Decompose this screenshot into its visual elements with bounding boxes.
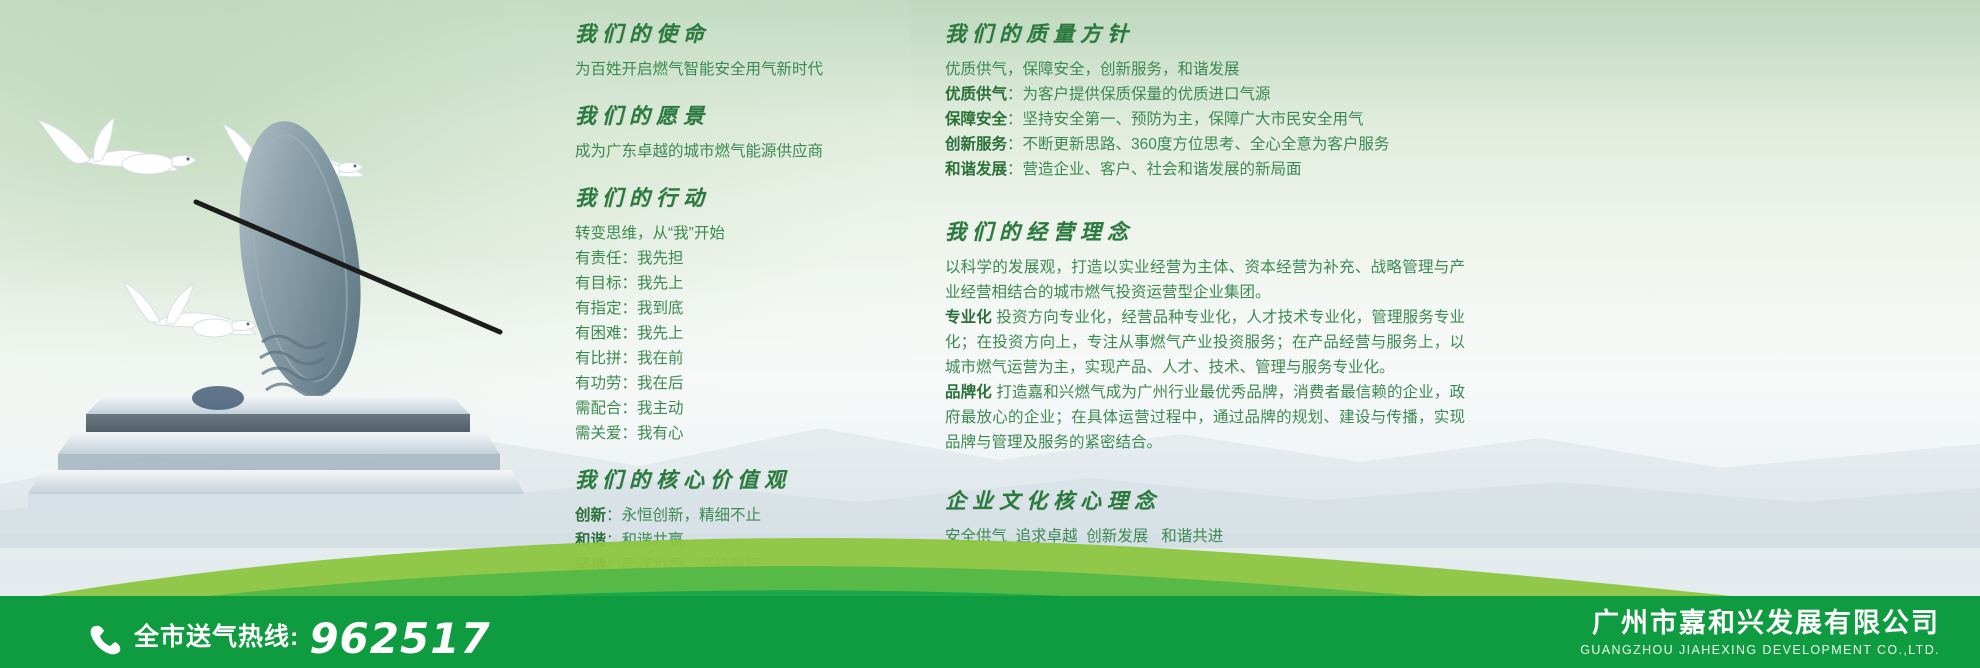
hotline-group: 全市送气热线: 962517 <box>88 618 491 660</box>
mission-line: 为百姓开启燃气智能安全用气新时代 <box>575 57 905 82</box>
mission-title: 我们的使命 <box>575 18 905 48</box>
quality-policy-lead: 创新服务 <box>945 136 1007 153</box>
company-identity: 广州市嘉和兴发展有限公司 GUANGZHOU JIAHEXING DEVELOP… <box>1580 608 1940 658</box>
action-block: 我们的行动 转变思维，从“我”开始 有责任：我先担 有目标：我先上 有指定：我到… <box>575 182 905 446</box>
business-philosophy-lead: 专业化 <box>945 309 992 326</box>
action-item: 有功劳：我在后 <box>575 371 905 396</box>
quality-policy-item: 优质供气：为客户提供保质保量的优质进口气源 <box>945 82 1465 107</box>
quality-policy-text: ：营造企业、客户、社会和谐发展的新局面 <box>1007 161 1302 178</box>
action-title: 我们的行动 <box>575 182 905 212</box>
action-item: 有指定：我到底 <box>575 296 905 321</box>
culture-core-title: 企业文化核心理念 <box>945 485 1465 515</box>
quality-policy-item: 保障安全：坚持安全第一、预防为主，保障广大市民安全用气 <box>945 107 1465 132</box>
business-philosophy-paragraph: 品牌化 打造嘉和兴燃气成为广州行业最优秀品牌，消费者最信赖的企业，政府最放心的企… <box>945 380 1465 455</box>
business-philosophy-title: 我们的经营理念 <box>945 216 1465 246</box>
business-philosophy-intro: 以科学的发展观，打造以实业经营为主体、资本经营为补充、战略管理与产业经营相结合的… <box>945 255 1465 305</box>
quality-policy-item: 和谐发展：营造企业、客户、社会和谐发展的新局面 <box>945 157 1465 182</box>
business-philosophy-paragraph: 专业化 投资方向专业化，经营品种专业化，人才技术专业化，管理服务专业化；在投资方… <box>945 305 1465 380</box>
quality-policy-text: ：不断更新思路、360度方位思考、全心全意为客户服务 <box>1007 136 1389 153</box>
action-item: 有比拼：我在前 <box>575 346 905 371</box>
culture-core-items: 安全供气 追求卓越 创新发展 和谐共进 <box>945 524 1465 549</box>
action-item: 有责任：我先担 <box>575 246 905 271</box>
company-name-en: GUANGZHOU JIAHEXING DEVELOPMENT CO.,LTD. <box>1580 642 1940 658</box>
core-values-block: 我们的核心价值观 创新：永恒创新，精细不止 和谐：和谐共赢 坚持：严谨负责，坚持… <box>575 464 905 578</box>
quality-policy-item: 创新服务：不断更新思路、360度方位思考、全心全意为客户服务 <box>945 132 1465 157</box>
core-value-text: ：和谐共赢 <box>606 532 684 549</box>
culture-core-item: 和谐共进 <box>1161 528 1223 545</box>
business-philosophy-text: 投资方向专业化，经营品种专业化，人才技术专业化，管理服务专业化；在投资方向上，专… <box>945 309 1465 376</box>
hotline-label: 全市送气热线: <box>134 625 299 650</box>
culture-core-block: 企业文化核心理念 安全供气 追求卓越 创新发展 和谐共进 <box>945 485 1465 549</box>
action-intro: 转变思维，从“我”开始 <box>575 221 905 246</box>
quality-policy-lead: 保障安全 <box>945 111 1007 128</box>
business-philosophy-text: 打造嘉和兴燃气成为广州行业最优秀品牌，消费者最信赖的企业，政府最放心的企业；在具… <box>945 384 1465 451</box>
core-value-lead: 创新 <box>575 507 606 524</box>
quality-policy-text: ：坚持安全第一、预防为主，保障广大市民安全用气 <box>1007 111 1364 128</box>
left-text-column: 我们的使命 为百姓开启燃气智能安全用气新时代 我们的愿景 成为广东卓越的城市燃气… <box>575 18 905 596</box>
stone-sundial-sculpture <box>0 110 560 510</box>
action-item: 需关爱：我有心 <box>575 421 905 446</box>
quality-policy-lead: 和谐发展 <box>945 161 1007 178</box>
culture-core-item: 创新发展 <box>1086 528 1148 545</box>
culture-core-item: 安全供气 <box>945 528 1007 545</box>
core-value-item: 和谐：和谐共赢 <box>575 528 905 553</box>
quality-policy-lead: 优质供气 <box>945 86 1007 103</box>
core-value-lead: 坚持 <box>575 557 606 574</box>
vision-line: 成为广东卓越的城市燃气能源供应商 <box>575 139 905 164</box>
vision-block: 我们的愿景 成为广东卓越的城市燃气能源供应商 <box>575 100 905 164</box>
quality-policy-title: 我们的质量方针 <box>945 18 1465 48</box>
core-value-lead: 和谐 <box>575 532 606 549</box>
quality-policy-block: 我们的质量方针 优质供气，保障安全，创新服务，和谐发展 优质供气：为客户提供保质… <box>945 18 1465 182</box>
core-value-text: ：永恒创新，精细不止 <box>606 507 761 524</box>
action-item: 有目标：我先上 <box>575 271 905 296</box>
action-item: 需配合：我主动 <box>575 396 905 421</box>
phone-icon <box>88 621 124 657</box>
vision-title: 我们的愿景 <box>575 100 905 130</box>
core-value-item: 创新：永恒创新，精细不止 <box>575 503 905 528</box>
poster-canvas: 我们的使命 为百姓开启燃气智能安全用气新时代 我们的愿景 成为广东卓越的城市燃气… <box>0 0 1980 668</box>
mission-block: 我们的使命 为百姓开启燃气智能安全用气新时代 <box>575 18 905 82</box>
quality-policy-summary: 优质供气，保障安全，创新服务，和谐发展 <box>945 57 1465 82</box>
core-value-item: 坚持：严谨负责，坚持前行 <box>575 553 905 578</box>
action-item: 有困难：我先上 <box>575 321 905 346</box>
culture-core-item: 追求卓越 <box>1016 528 1078 545</box>
quality-policy-text: ：为客户提供保质保量的优质进口气源 <box>1007 86 1271 103</box>
company-name-cn: 广州市嘉和兴发展有限公司 <box>1580 608 1940 639</box>
hotline-number: 962517 <box>309 618 490 660</box>
right-text-column: 我们的质量方针 优质供气，保障安全，创新服务，和谐发展 优质供气：为客户提供保质… <box>945 18 1465 567</box>
core-value-text: ：严谨负责，坚持前行 <box>606 557 761 574</box>
core-values-title: 我们的核心价值观 <box>575 464 905 494</box>
business-philosophy-lead: 品牌化 <box>945 384 992 401</box>
business-philosophy-block: 我们的经营理念 以科学的发展观，打造以实业经营为主体、资本经营为补充、战略管理与… <box>945 216 1465 455</box>
